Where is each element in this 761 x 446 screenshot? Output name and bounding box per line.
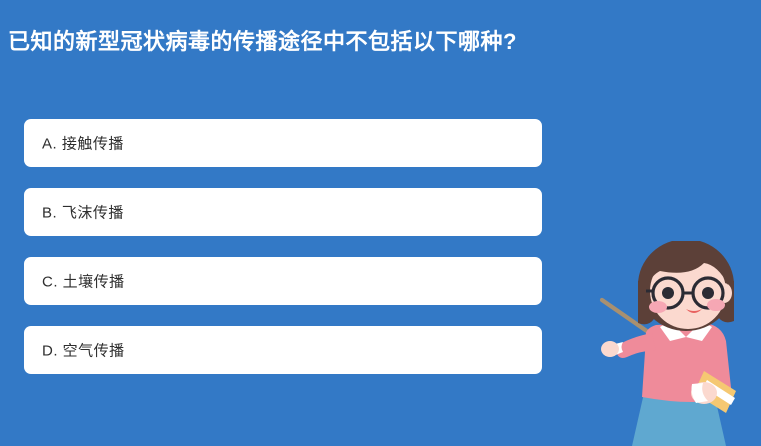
blush-left (649, 301, 667, 313)
option-card-a[interactable]: A. 接触传播 (24, 119, 542, 167)
eye-right (702, 287, 714, 299)
eye-left (662, 287, 674, 299)
teacher-illustration (586, 241, 761, 446)
option-card-d[interactable]: D. 空气传播 (24, 326, 542, 374)
option-label-a: A. 接触传播 (42, 133, 124, 154)
option-card-b[interactable]: B. 飞沫传播 (24, 188, 542, 236)
page-title: 已知的新型冠状病毒的传播途径中不包括以下哪种? (8, 28, 517, 56)
option-label-d: D. 空气传播 (42, 340, 125, 361)
options-list: A. 接触传播 B. 飞沫传播 C. 土壤传播 D. 空气传播 (24, 119, 542, 395)
quiz-screen: 已知的新型冠状病毒的传播途径中不包括以下哪种? A. 接触传播 B. 飞沫传播 … (0, 0, 761, 446)
option-card-c[interactable]: C. 土壤传播 (24, 257, 542, 305)
blush-right (707, 299, 725, 311)
hand-left (601, 341, 619, 357)
option-label-b: B. 飞沫传播 (42, 202, 124, 223)
option-label-c: C. 土壤传播 (42, 271, 125, 292)
